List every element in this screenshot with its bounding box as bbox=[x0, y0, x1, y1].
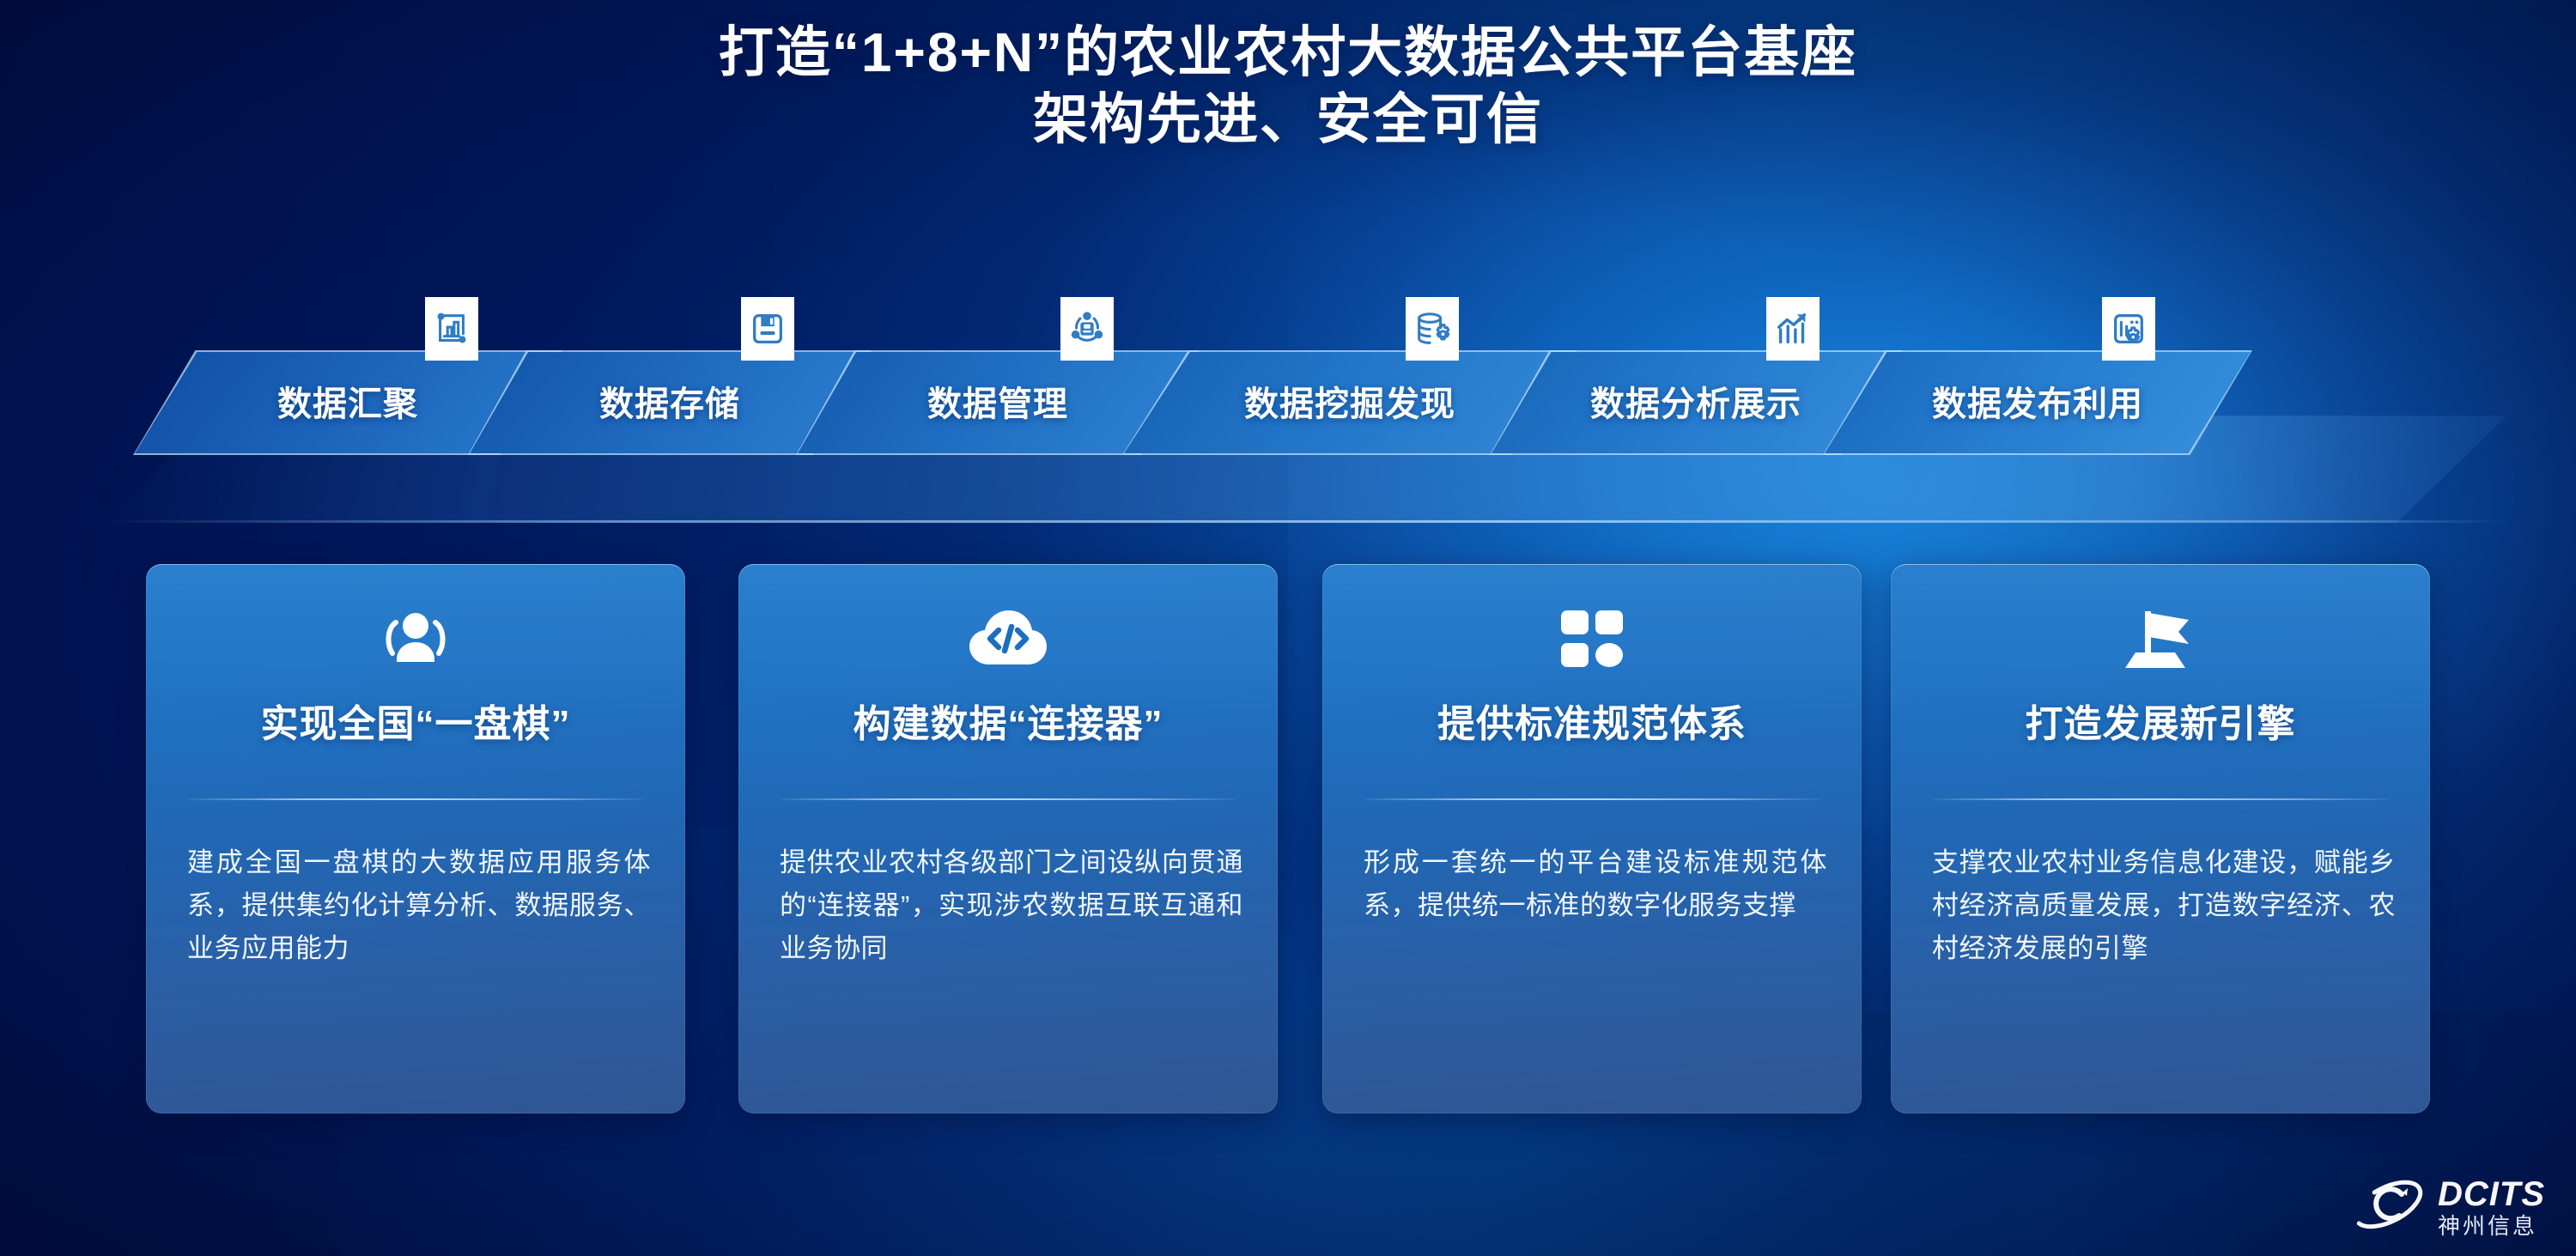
company-logo: DCITS 神州信息 bbox=[2348, 1171, 2545, 1242]
slide-canvas: 打造“1+8+N”的农业农村大数据公共平台基座 架构先进、安全可信 数据汇聚 数… bbox=[0, 0, 2576, 1256]
data-node-network-icon bbox=[1060, 297, 1114, 361]
page-title: 打造“1+8+N”的农业农村大数据公共平台基座 架构先进、安全可信 bbox=[0, 19, 2576, 153]
data-pipeline-ribbon: 数据汇聚 数据存储 数据管理 数据 bbox=[0, 283, 2576, 541]
card-body-text: 提供农业农村各级部门之间设纵向贯通的“连接器”，实现涉农数据互联互通和业务协同 bbox=[780, 841, 1243, 971]
value-card-3[interactable]: 提供标准规范体系形成一套统一的平台建设标准规范体系，提供统一标准的数字化服务支撑 bbox=[1322, 564, 1862, 1113]
card-body-text: 支撑农业农村业务信息化建设，赋能乡村经济高质量发展，打造数字经济、农村经济发展的… bbox=[1932, 841, 2396, 971]
card-divider bbox=[187, 798, 644, 800]
card-body-text: 形成一套统一的平台建设标准规范体系，提供统一标准的数字化服务支撑 bbox=[1364, 841, 1827, 927]
card-title: 打造发展新引擎 bbox=[1891, 693, 2430, 748]
pipeline-step-label: 数据发布利用 bbox=[1823, 376, 2252, 426]
card-divider bbox=[1364, 798, 1820, 800]
page-title-line-1: 打造“1+8+N”的农业农村大数据公共平台基座 bbox=[0, 19, 2576, 86]
card-divider bbox=[780, 798, 1236, 800]
trend-chart-icon bbox=[1766, 297, 1820, 361]
logo-name-cn: 神州信息 bbox=[2438, 1215, 2545, 1237]
logo-text: DCITS 神州信息 bbox=[2438, 1177, 2545, 1237]
bar-chart-frame-icon bbox=[425, 297, 478, 361]
value-card-1[interactable]: 实现全国“一盘棋”建成全国一盘棋的大数据应用服务体系，提供集约化计算分析、数据服… bbox=[146, 564, 685, 1113]
users-group-icon bbox=[146, 604, 685, 674]
logo-name-en: DCITS bbox=[2438, 1177, 2545, 1211]
flag-icon bbox=[1891, 604, 2430, 674]
card-title: 提供标准规范体系 bbox=[1322, 693, 1862, 748]
card-divider bbox=[1932, 798, 2389, 800]
page-title-line-2: 架构先进、安全可信 bbox=[0, 86, 2576, 153]
card-title: 实现全国“一盘棋” bbox=[146, 693, 685, 748]
cloud-code-icon bbox=[738, 604, 1278, 674]
card-body-text: 建成全国一盘棋的大数据应用服务体系，提供集约化计算分析、数据服务、业务应用能力 bbox=[187, 841, 651, 971]
value-card-2[interactable]: 构建数据“连接器”提供农业农村各级部门之间设纵向贯通的“连接器”，实现涉农数据互… bbox=[738, 564, 1278, 1113]
value-card-4[interactable]: 打造发展新引擎支撑农业农村业务信息化建设，赋能乡村经济高质量发展，打造数字经济、… bbox=[1891, 564, 2430, 1113]
floppy-disk-icon bbox=[741, 297, 794, 361]
database-gear-icon bbox=[1406, 297, 1459, 361]
panel-gear-icon bbox=[2102, 297, 2155, 361]
card-title: 构建数据“连接器” bbox=[738, 693, 1278, 748]
orbit-swirl-icon bbox=[2348, 1171, 2427, 1242]
four-blocks-icon bbox=[1322, 604, 1862, 674]
pipeline-step-6[interactable]: 数据发布利用 bbox=[1823, 350, 2252, 455]
